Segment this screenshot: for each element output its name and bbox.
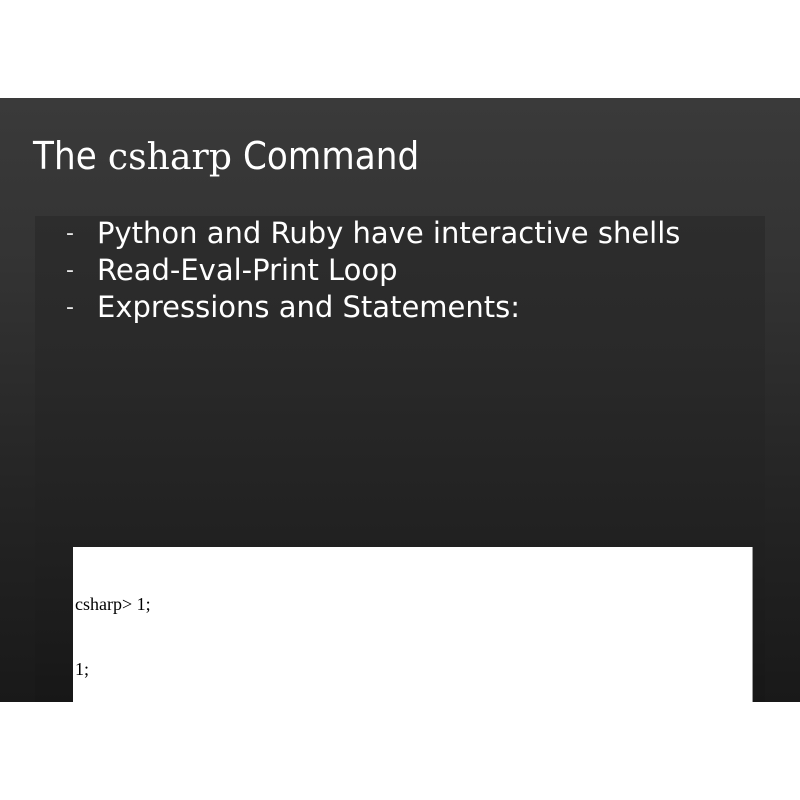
code-line: 1; [75,659,752,681]
content-panel: - Python and Ruby have interactive shell… [35,216,765,702]
code-console-box: csharp> 1; 1; csharp> “Hello, World”.Ind… [73,547,753,702]
bullet-marker-icon: - [66,254,74,287]
bullet-marker-icon: - [66,291,74,324]
list-item: - Expressions and Statements: [66,291,726,324]
bullet-marker-icon: - [66,217,74,250]
list-item: - Python and Ruby have interactive shell… [66,217,726,250]
bullet-list: - Python and Ruby have interactive shell… [66,217,726,328]
title-suffix: Command [232,134,419,178]
code-line: csharp> 1; [75,594,752,616]
page-title: The csharp Command [33,130,763,184]
title-command-name: csharp [108,137,232,178]
presentation-slide: The csharp Command - Python and Ruby hav… [0,98,800,702]
title-prefix: The [33,134,108,178]
code-console-lines: csharp> 1; 1; csharp> “Hello, World”.Ind… [73,547,752,702]
list-item: - Read-Eval-Print Loop [66,254,726,287]
list-item-label: Read-Eval-Print Loop [97,254,726,287]
list-item-label: Python and Ruby have interactive shells [97,217,726,250]
slide-canvas: The csharp Command - Python and Ruby hav… [0,0,800,800]
list-item-label: Expressions and Statements: [97,291,726,324]
